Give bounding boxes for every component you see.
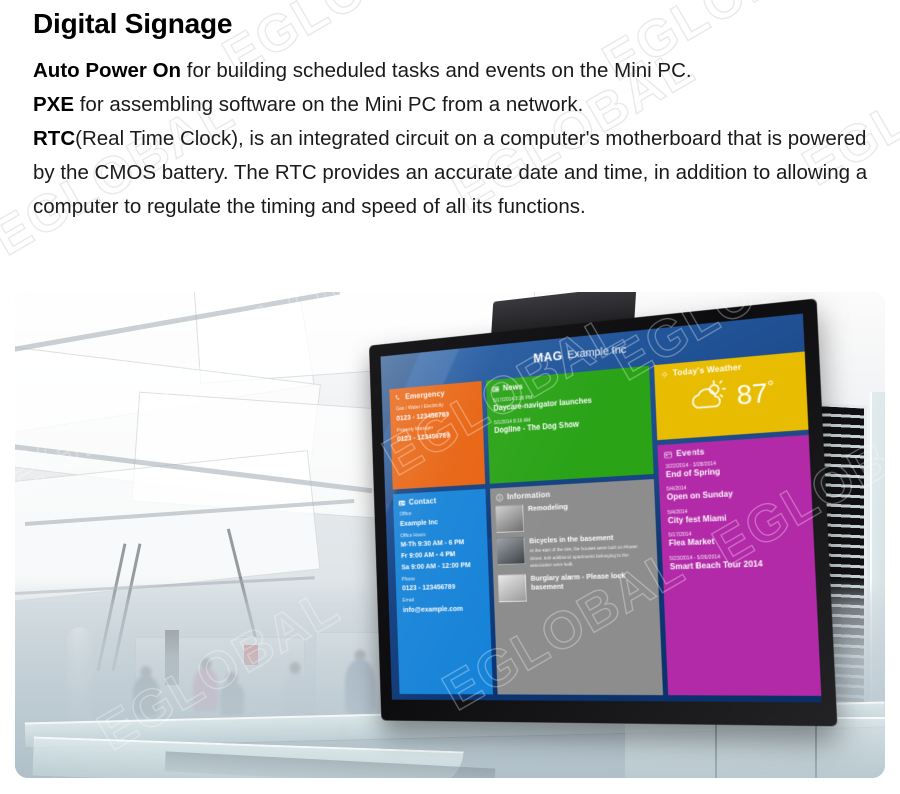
contact-card-icon: [398, 499, 405, 507]
information-thumbnail: [495, 504, 524, 533]
tile-contact-body: Office Example Inc Office Hours M-Th 9:3…: [393, 505, 490, 625]
digital-signage-photo: MAG Example Inc Emergency Gas / Wa: [15, 292, 885, 778]
tile-information[interactable]: Information Remodeling: [490, 479, 663, 695]
monitor-bezel: MAG Example Inc Emergency Gas / Wa: [369, 298, 837, 726]
information-item[interactable]: Burglary alarm - Please lock basement: [498, 570, 654, 602]
body-copy: Auto Power On for building scheduled tas…: [33, 54, 878, 224]
tile-weather-title-row: Today's Weather: [654, 351, 809, 382]
tile-news[interactable]: News 5/17/2014 3:36 PM Daycare-navigator…: [486, 366, 654, 484]
signage-tile-grid: Emergency Gas / Water / Electricity 0123…: [382, 351, 822, 695]
event-2-name: City fest Miami: [668, 509, 809, 526]
tile-weather-body: 87°: [655, 369, 811, 421]
article-text-block: Digital Signage Auto Power On for buildi…: [33, 8, 878, 224]
balustrade-mullion: [815, 720, 817, 778]
tile-events[interactable]: Events 3/22/2014 - 3/28/2014 End of Spri…: [657, 435, 821, 696]
tile-information-body: Remodeling Bicycles in the basement At t…: [491, 496, 660, 611]
event-0-name: End of Spring: [666, 462, 806, 481]
text-auto-power-on: for building scheduled tasks and events …: [181, 59, 692, 82]
lead-pxe: PXE: [33, 93, 74, 116]
brand-mark: MAG: [533, 349, 563, 365]
event-4-name: Smart Beach Tour 2014: [670, 557, 811, 572]
tile-emergency-body: Gas / Water / Electricity 0123 - 1234567…: [390, 397, 484, 455]
event-item[interactable]: 5/17/2014 Flea Market: [668, 527, 809, 550]
information-item-2-headline: Burglary alarm - Please lock basement: [530, 570, 653, 593]
tile-weather-title: Today's Weather: [673, 362, 742, 377]
tile-news-title: News: [503, 382, 523, 393]
info-icon: [496, 493, 504, 501]
event-item[interactable]: 5/23/2014 - 5/26/2014 Smart Beach Tour 2…: [669, 551, 810, 573]
tile-contact-title: Contact: [409, 496, 437, 506]
information-item-1-description: At the start of the 60s, the houses were…: [529, 543, 652, 569]
brand-name: Example Inc: [567, 344, 627, 362]
event-2-date: 5/4/2014: [667, 503, 807, 516]
tile-emergency-title: Emergency: [405, 389, 445, 401]
news-icon: [492, 385, 500, 393]
phone-icon: [395, 393, 402, 401]
information-item[interactable]: Remodeling: [495, 498, 651, 533]
text-pxe: for assembling software on the Mini PC f…: [74, 93, 583, 116]
text-rtc: (Real Time Clock), is an integrated circ…: [33, 127, 867, 218]
event-item[interactable]: 5/4/2014 City fest Miami: [667, 503, 808, 527]
partly-cloudy-icon: [688, 378, 731, 417]
contact-row-3-value: Sa 9:00 AM - 12:00 PM: [401, 560, 482, 573]
event-3-name: Flea Market: [669, 533, 810, 549]
news-item[interactable]: 5/1/2014 8:16 AM Dogline - The Dog Show: [494, 409, 645, 436]
tile-weather[interactable]: Today's Weather: [654, 351, 812, 440]
paragraph-auto-power-on: Auto Power On for building scheduled tas…: [33, 54, 878, 88]
lead-auto-power-on: Auto Power On: [33, 59, 181, 82]
event-1-name: Open on Sunday: [667, 485, 808, 503]
event-0-date: 3/22/2014 - 3/28/2014: [665, 455, 805, 470]
weather-temperature: 87°: [736, 378, 775, 408]
information-item[interactable]: Bicycles in the basement At the start of…: [496, 531, 652, 570]
sun-icon: [660, 369, 668, 378]
tile-events-body: 3/22/2014 - 3/28/2014 End of Spring 5/4/…: [658, 453, 819, 585]
contact-row-5-value: info@example.com: [403, 603, 484, 615]
event-4-date: 5/23/2014 - 5/26/2014: [669, 551, 810, 562]
tile-contact[interactable]: Contact Office Example Inc Office Hours …: [393, 489, 493, 695]
event-item[interactable]: 5/4/2014 Open on Sunday: [666, 479, 807, 504]
tile-events-title: Events: [676, 447, 705, 458]
balustrade-mullion: [715, 720, 717, 778]
signage-screen[interactable]: MAG Example Inc Emergency Gas / Wa: [381, 314, 822, 703]
page-title: Digital Signage: [33, 8, 878, 40]
digital-signage-monitor[interactable]: MAG Example Inc Emergency Gas / Wa: [369, 298, 837, 726]
tile-events-title-row: Events: [657, 435, 812, 463]
paragraph-pxe: PXE for assembling software on the Mini …: [33, 88, 878, 122]
event-3-date: 5/17/2014: [668, 527, 809, 539]
information-thumbnail: [496, 537, 525, 565]
information-thumbnail: [498, 574, 527, 602]
lead-rtc: RTC: [33, 127, 75, 150]
paragraph-rtc: RTC(Real Time Clock), is an integrated c…: [33, 122, 878, 224]
information-item-1-headline: Bicycles in the basement: [529, 531, 651, 546]
tile-information-title: Information: [507, 490, 551, 501]
event-item[interactable]: 3/22/2014 - 3/28/2014 End of Spring: [665, 455, 806, 480]
event-1-date: 5/4/2014: [666, 479, 806, 493]
calendar-icon: [664, 450, 673, 459]
glass-balustrade-right: [625, 717, 885, 778]
tile-emergency[interactable]: Emergency Gas / Water / Electricity 0123…: [389, 381, 485, 490]
